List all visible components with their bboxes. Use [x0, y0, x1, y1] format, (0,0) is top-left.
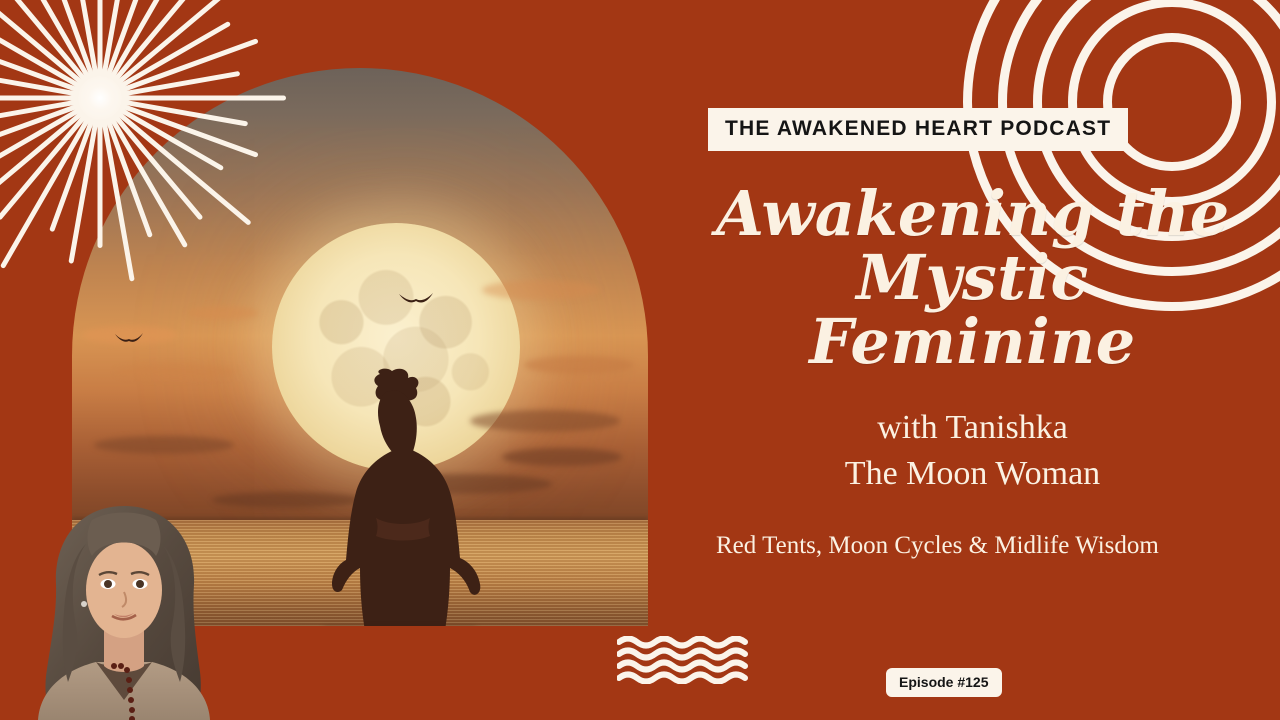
cloud: [116, 364, 236, 380]
cloud: [188, 306, 258, 320]
episode-description: Red Tents, Moon Cycles & Midlife Wisdom: [716, 528, 1221, 564]
bird-icon: [114, 331, 144, 345]
host-portrait: [28, 500, 220, 720]
episode-number-badge: Episode #125: [886, 668, 1002, 697]
podcast-cover-canvas: THE AWAKENED HEART PODCAST Awakening the…: [0, 0, 1280, 720]
cloud: [482, 280, 600, 300]
cloud: [502, 448, 622, 466]
host-credit-line-2: The Moon Woman: [700, 451, 1245, 497]
title-line-2: Mystic Feminine: [700, 246, 1245, 374]
bird-icon: [398, 290, 434, 306]
host-credit-line-1: with Tanishka: [700, 405, 1245, 451]
text-column: THE AWAKENED HEART PODCAST Awakening the…: [690, 0, 1250, 720]
cloud: [470, 410, 620, 432]
page-title: Awakening the Mystic Feminine: [700, 182, 1245, 374]
cloud: [94, 436, 234, 454]
title-line-1: Awakening the: [716, 177, 1229, 250]
podcast-name-badge: THE AWAKENED HEART PODCAST: [708, 108, 1128, 151]
host-credit: with Tanishka The Moon Woman: [700, 405, 1245, 496]
woman-silhouette: [316, 368, 486, 626]
cloud: [524, 356, 634, 374]
